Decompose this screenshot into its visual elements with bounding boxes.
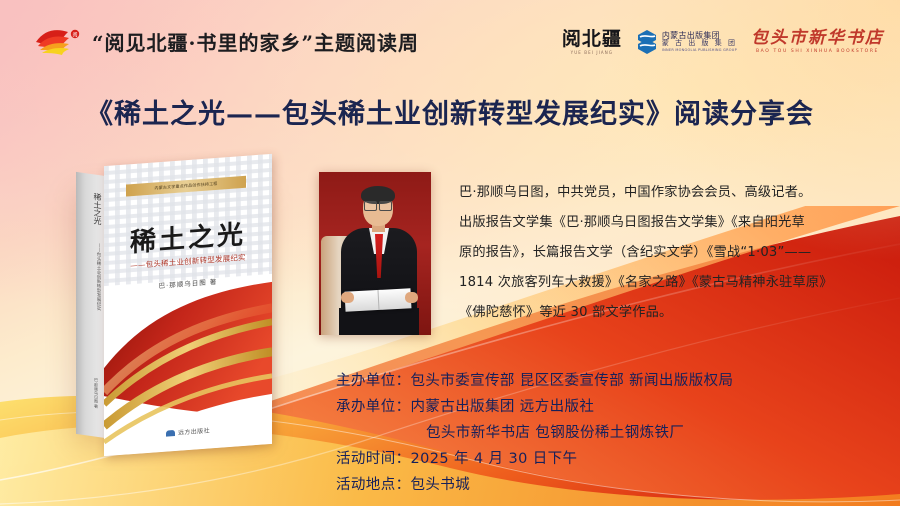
host-label: 主办单位： [336, 373, 411, 389]
header-bar: 阅 “阅见北疆·书里的家乡”主题阅读周 阅北疆 YUE BEI JIANG 内蒙… [0, 0, 900, 78]
organizer-value: 内蒙古出版集团 远方出版社 [411, 399, 595, 415]
yuebeijiang-logo-en: YUE BEI JIANG [571, 51, 613, 55]
host-row: 主办单位：包头市委宣传部 昆区区委宣传部 新闻出版版权局 [336, 368, 896, 394]
held-book-shape [345, 288, 412, 311]
book-spine: 稀土之光 ——包头稀土业创新转型发展纪实 巴·那顺乌日图 著 [76, 172, 106, 438]
partner-logos: 阅北疆 YUE BEI JIANG 内蒙古出版集团 蒙 古 出 版 集 团 IN… [562, 24, 884, 60]
event-main-title: 《稀土之光——包头稀土业创新转型发展纪实》阅读分享会 [0, 92, 900, 131]
organizer-row: 承办单位：内蒙古出版集团 远方出版社 [336, 394, 896, 420]
organizer-label: 承办单位： [336, 399, 411, 415]
time-value: 2025 年 4 月 30 日下午 [411, 451, 578, 467]
right-hand-shape [405, 292, 418, 303]
publishing-group-cn2: 蒙 古 出 版 集 团 [662, 40, 737, 47]
bio-line: 原的报告》，长篇报告文学（含纪实文学）《雪战“1·03”—— [459, 238, 883, 268]
xinhua-logo-en: BAO TOU SHI XINHUA BOOKSTORE [756, 50, 879, 55]
bio-line: 出版报告文学集《巴·那顺乌日图报告文学集》《来自阳光草 [459, 208, 883, 238]
place-label: 活动地点： [336, 477, 411, 493]
book-spine-author: 巴·那顺乌日图 著 [83, 376, 99, 409]
author-portrait-photo [319, 172, 431, 335]
red-flag-emblem-icon: 阅 [32, 26, 90, 58]
eyeglasses-icon [364, 201, 392, 209]
book-spine-subtitle: ——包头稀土业创新转型发展纪实 [81, 241, 101, 311]
book-cover: 稀土之光 ——包头稀土业创新转型发展纪实 巴·那顺乌日图 著 内蒙古文学重点作品… [64, 152, 294, 452]
publishing-group-mark-icon [636, 29, 658, 55]
publishing-group-en: INNER MONGOLIA PUBLISHING GROUP [662, 49, 737, 53]
event-info-block: 主办单位：包头市委宣传部 昆区区委宣传部 新闻出版版权局 承办单位：内蒙古出版集… [336, 368, 896, 498]
svg-text:阅: 阅 [72, 32, 77, 39]
author-bio: 巴·那顺乌日图，中共党员，中国作家协会会员、高级记者。 出版报告文学集《巴·那顺… [459, 178, 883, 328]
bio-line: 巴·那顺乌日图，中共党员，中国作家协会会员、高级记者。 [459, 178, 883, 208]
place-value: 包头书城 [411, 477, 471, 493]
baotou-xinhua-bookstore-logo[interactable]: 包头市新华书店 BAO TOU SHI XINHUA BOOKSTORE [751, 30, 884, 55]
publisher-mark-icon [166, 430, 175, 437]
book-spine-title: 稀土之光 [81, 191, 101, 226]
lap-shape [339, 308, 419, 335]
yuebeijiang-logo-cn: 阅北疆 [562, 30, 622, 49]
time-label: 活动时间： [336, 451, 411, 467]
header-title: “阅见北疆·书里的家乡”主题阅读周 [92, 27, 419, 56]
place-row: 活动地点：包头书城 [336, 472, 896, 498]
book-front-cover: 内蒙古文学重点作品创作扶持工程 稀土之光 ——包头稀土业创新转型发展纪实 巴·那… [104, 154, 272, 456]
yuebeijiang-logo[interactable]: 阅北疆 YUE BEI JIANG [562, 30, 622, 55]
organizer-row-2: 包头市新华书店 包钢股份稀土钢炼铁厂 [336, 420, 896, 446]
xinhua-logo-cn: 包头市新华书店 [751, 30, 884, 47]
poster-canvas: 阅 “阅见北疆·书里的家乡”主题阅读周 阅北疆 YUE BEI JIANG 内蒙… [0, 0, 900, 506]
left-hand-shape [341, 292, 354, 303]
organizer-value-2: 包头市新华书店 包钢股份稀土钢炼铁厂 [426, 425, 684, 441]
inner-mongolia-publishing-group-logo[interactable]: 内蒙古出版集团 蒙 古 出 版 集 团 INNER MONGOLIA PUBLI… [636, 29, 737, 55]
host-value: 包头市委宣传部 昆区区委宣传部 新闻出版版权局 [411, 373, 734, 389]
bio-line: 1814 次旅客列车大救援》《名家之路》《蒙古马精神永驻草原》 [459, 268, 883, 298]
time-row: 活动时间：2025 年 4 月 30 日下午 [336, 446, 896, 472]
bio-line: 《佛陀慈怀》等近 30 部文学作品。 [459, 298, 883, 328]
